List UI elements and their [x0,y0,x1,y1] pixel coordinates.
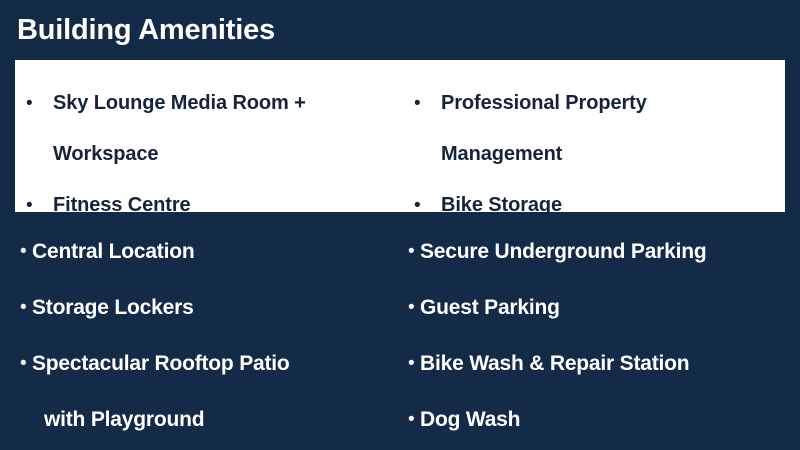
list-item-label: Spectacular Rooftop Patio [32,336,290,392]
page-title: Building Amenities [17,12,275,48]
list-item-label-continued: Workspace [53,131,158,178]
list-item-label: Secure Underground Parking [420,224,707,280]
bullet-icon: • [20,280,32,336]
list-item-label: Bike Wash & Repair Station [420,336,689,392]
list-item: • Sky Lounge Media Room + [25,80,405,127]
list-item: • Storage Lockers [20,280,400,336]
bullet-icon: • [408,392,420,448]
panel-left-column: • Sky Lounge Media Room + Workspace • Fi… [15,60,405,212]
amenities-right-column: • Secure Underground Parking • Guest Par… [408,224,800,448]
amenities-left-column: • Central Location • Storage Lockers • S… [20,224,400,448]
bullet-icon: • [25,80,53,127]
list-item-label: Central Location [32,224,194,280]
list-item-label-continued: Management [441,131,562,178]
bullet-icon: • [408,224,420,280]
list-item-label: Dog Wash [420,392,520,448]
list-item: • Professional Property [413,80,785,127]
list-item-label: Sky Lounge Media Room + [53,80,306,127]
list-item-continuation: with Playground [20,392,400,448]
bullet-icon: • [20,336,32,392]
list-item-label: Professional Property [441,80,647,127]
list-item-continuation: Workspace [25,131,405,178]
list-item: • Dog Wash [408,392,800,448]
panel-right-column: • Professional Property Management • Bik… [405,60,785,212]
list-item-label: Guest Parking [420,280,560,336]
list-item: • Guest Parking [408,280,800,336]
slide-canvas: Building Amenities • Sky Lounge Media Ro… [0,0,800,450]
list-item-continuation: Management [413,131,785,178]
list-item: • Bike Wash & Repair Station [408,336,800,392]
bullet-icon: • [20,224,32,280]
list-item-label: Storage Lockers [32,280,194,336]
bullet-icon: • [413,80,441,127]
list-item: • Central Location [20,224,400,280]
list-item: • Secure Underground Parking [408,224,800,280]
bullet-icon: • [408,336,420,392]
amenities-lists-section: • Central Location • Storage Lockers • S… [0,214,800,450]
list-item: • Spectacular Rooftop Patio [20,336,400,392]
bullet-icon: • [408,280,420,336]
list-item-label-continued: with Playground [32,392,204,448]
highlighted-amenities-panel: • Sky Lounge Media Room + Workspace • Fi… [15,60,785,212]
